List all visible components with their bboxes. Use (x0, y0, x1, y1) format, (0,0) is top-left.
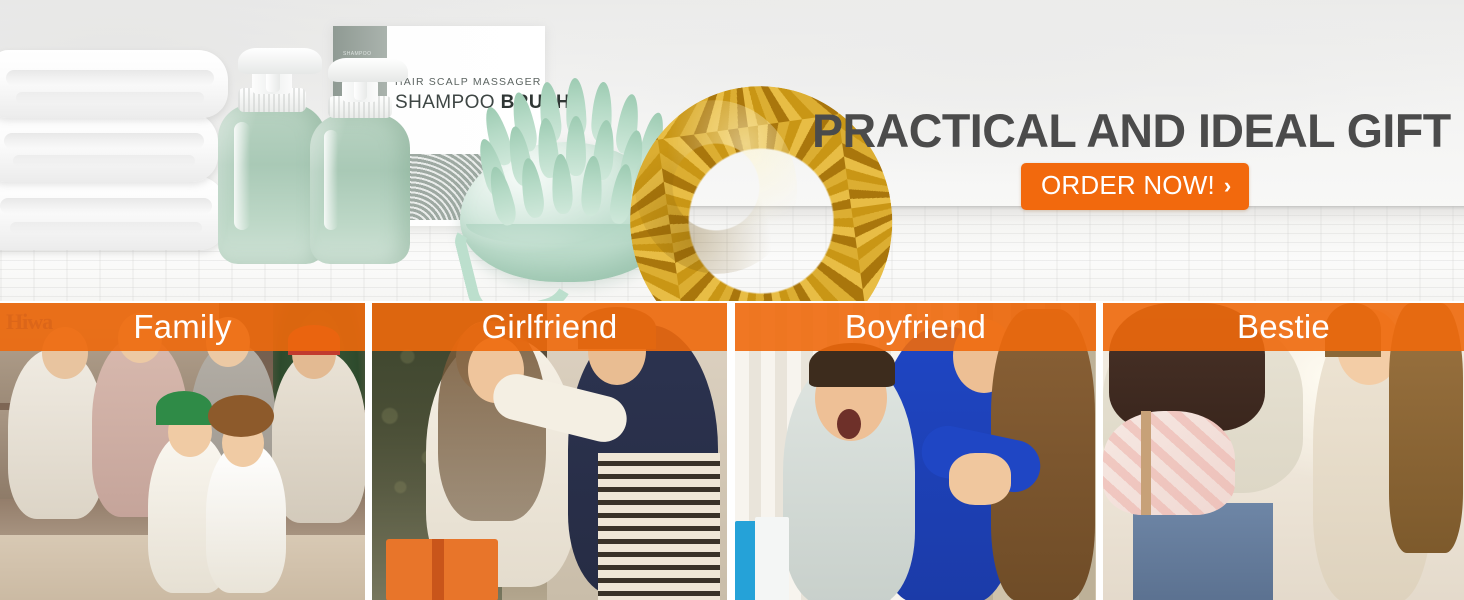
towel-top (0, 50, 228, 118)
panel-label-boyfriend: Boyfriend (735, 303, 1096, 351)
towel-middle (0, 112, 218, 182)
panel-label-bestie: Bestie (1103, 303, 1464, 351)
panel-watermark: Hiwa (6, 309, 52, 335)
chevron-right-icon: › (1224, 175, 1232, 197)
panel-label-family: Family (0, 303, 365, 351)
gift-recipient-panels: Hiwa Family Girlfriend (0, 301, 1464, 600)
pump-bottle-small (310, 56, 410, 264)
panel-boyfriend[interactable]: Boyfriend (735, 303, 1096, 600)
gold-scrunchie (613, 80, 820, 293)
panel-bestie[interactable]: Bestie (1103, 303, 1464, 600)
panel-girlfriend[interactable]: Girlfriend (372, 303, 727, 600)
product-banner-page: SHAMPOO BRUSH HAIR SCALP MASSAGER SHAMPO… (0, 0, 1464, 600)
panel-label-girlfriend: Girlfriend (372, 303, 727, 351)
order-now-label: ORDER NOW! (1041, 170, 1215, 201)
page-title: PRACTICAL AND IDEAL GIFT (812, 103, 1451, 158)
towel-bottom (0, 176, 226, 250)
panel-family[interactable]: Hiwa Family (0, 303, 365, 600)
hero-banner: SHAMPOO BRUSH HAIR SCALP MASSAGER SHAMPO… (0, 0, 1464, 301)
towel-stack (0, 48, 242, 263)
order-now-button[interactable]: ORDER NOW! › (1021, 163, 1249, 210)
